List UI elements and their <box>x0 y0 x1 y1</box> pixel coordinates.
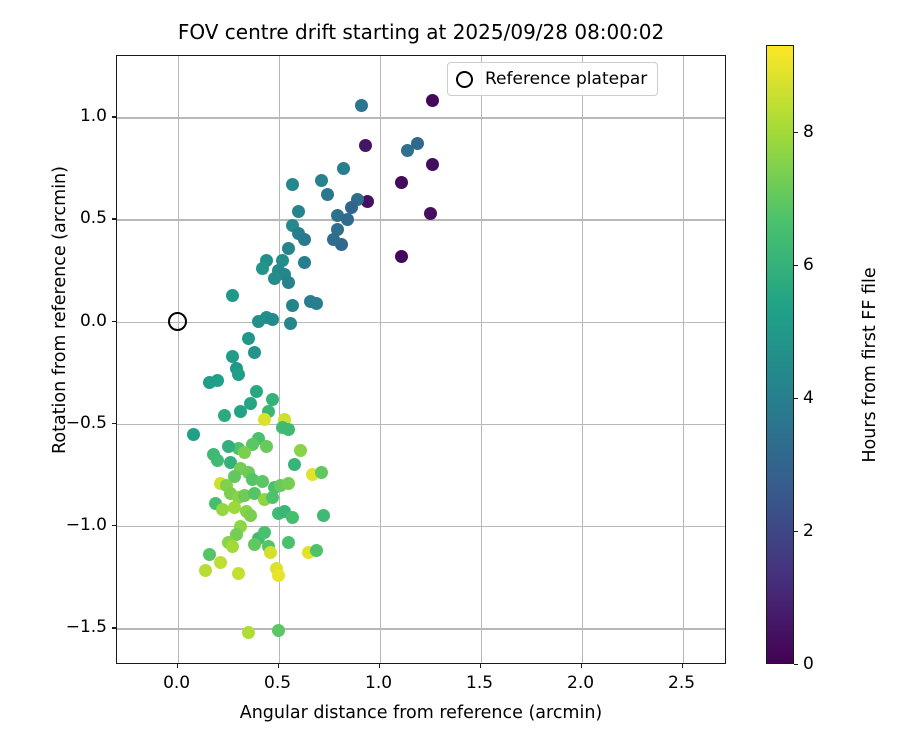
x-tick-mark <box>379 664 380 668</box>
data-point <box>282 536 295 549</box>
data-point <box>337 162 350 175</box>
data-point <box>252 315 265 328</box>
y-tick-label: −1.0 <box>66 515 107 535</box>
colorbar-tick-mark <box>794 265 798 266</box>
x-tick-label: 1.5 <box>466 673 493 693</box>
page-title: FOV centre drift starting at 2025/09/28 … <box>116 20 726 44</box>
y-tick-label: −1.5 <box>66 617 107 637</box>
legend: Reference platepar <box>447 62 658 96</box>
y-tick-mark <box>112 218 116 219</box>
data-point <box>250 385 263 398</box>
data-point <box>298 256 311 269</box>
x-tick-label: 1.0 <box>365 673 392 693</box>
data-point <box>218 409 231 422</box>
y-tick-label: −0.5 <box>66 413 107 433</box>
plot-area <box>116 55 726 664</box>
data-point <box>272 624 285 637</box>
y-axis-label: Rotation from reference (arcmin) <box>50 145 70 475</box>
data-point <box>395 176 408 189</box>
data-point <box>266 393 279 406</box>
y-tick-mark <box>112 116 116 117</box>
data-point <box>395 250 408 263</box>
y-tick-mark <box>112 423 116 424</box>
data-point <box>226 289 239 302</box>
data-point <box>199 564 212 577</box>
legend-marker-open-circle-icon <box>456 71 473 88</box>
data-point <box>292 205 305 218</box>
data-point <box>266 491 279 504</box>
data-point <box>226 540 239 553</box>
data-point <box>232 368 245 381</box>
reference-platepar-marker <box>168 312 187 331</box>
gridline-vertical <box>683 56 684 663</box>
y-tick-label: 1.0 <box>80 106 107 126</box>
colorbar-tick-label: 0 <box>803 654 814 674</box>
gridline-horizontal <box>117 526 725 527</box>
colorbar-tick-label: 2 <box>803 521 814 541</box>
gridline-vertical <box>178 56 179 663</box>
data-point <box>424 207 437 220</box>
data-point <box>203 376 216 389</box>
data-point <box>228 501 241 514</box>
data-point <box>310 544 323 557</box>
gridline-vertical <box>380 56 381 663</box>
data-point <box>288 458 301 471</box>
y-tick-mark <box>112 627 116 628</box>
data-point <box>242 332 255 345</box>
data-point <box>266 313 279 326</box>
colorbar-tick-label: 6 <box>803 255 814 275</box>
colorbar-tick-mark <box>794 398 798 399</box>
data-point <box>341 213 354 226</box>
data-point <box>256 475 269 488</box>
data-point <box>222 440 235 453</box>
data-point <box>294 444 307 457</box>
data-point <box>315 466 328 479</box>
data-point <box>315 174 328 187</box>
colorbar-tick-mark <box>794 132 798 133</box>
data-point <box>214 556 227 569</box>
data-point <box>256 262 269 275</box>
data-point <box>272 569 285 582</box>
data-point <box>248 538 261 551</box>
data-point <box>226 350 239 363</box>
data-point <box>282 423 295 436</box>
colorbar-tick-label: 8 <box>803 122 814 142</box>
data-point <box>286 299 299 312</box>
gridline-vertical <box>481 56 482 663</box>
gridline-horizontal <box>117 219 725 220</box>
gridline-horizontal <box>117 628 725 629</box>
x-tick-label: 0.0 <box>163 673 190 693</box>
colorbar <box>766 45 794 664</box>
data-point <box>234 405 247 418</box>
gridline-vertical <box>582 56 583 663</box>
data-point <box>211 454 224 467</box>
data-point <box>260 440 273 453</box>
gridline-horizontal <box>117 322 725 323</box>
x-tick-label: 0.5 <box>264 673 291 693</box>
data-point <box>310 297 323 310</box>
y-tick-mark <box>112 525 116 526</box>
x-tick-mark <box>581 664 582 668</box>
colorbar-tick-mark <box>794 531 798 532</box>
data-point <box>264 546 277 559</box>
data-point <box>355 99 368 112</box>
gridline-horizontal <box>117 424 725 425</box>
data-point <box>327 233 340 246</box>
x-tick-mark <box>177 664 178 668</box>
data-point <box>282 242 295 255</box>
x-tick-mark <box>480 664 481 668</box>
data-point <box>282 276 295 289</box>
legend-label: Reference platepar <box>485 69 647 89</box>
x-tick-mark <box>278 664 279 668</box>
y-tick-label: 0.0 <box>80 311 107 331</box>
data-point <box>238 446 251 459</box>
gridline-horizontal <box>117 117 725 118</box>
data-point <box>242 626 255 639</box>
data-point <box>284 317 297 330</box>
y-tick-mark <box>112 321 116 322</box>
data-point <box>321 188 334 201</box>
y-tick-label: 0.5 <box>80 208 107 228</box>
data-point <box>426 158 439 171</box>
data-point <box>286 178 299 191</box>
data-point <box>244 509 257 522</box>
data-point <box>282 477 295 490</box>
data-point <box>359 139 372 152</box>
colorbar-tick-label: 4 <box>803 388 814 408</box>
x-axis-label: Angular distance from reference (arcmin) <box>116 703 726 723</box>
colorbar-label: Hours from first FF file <box>860 195 880 535</box>
data-point <box>248 346 261 359</box>
x-tick-label: 2.0 <box>567 673 594 693</box>
data-point <box>426 94 439 107</box>
data-point <box>317 509 330 522</box>
data-point <box>187 428 200 441</box>
x-tick-label: 2.5 <box>668 673 695 693</box>
data-point <box>345 201 358 214</box>
x-tick-mark <box>682 664 683 668</box>
data-point <box>232 567 245 580</box>
data-point <box>216 503 229 516</box>
scatter-figure: FOV centre drift starting at 2025/09/28 … <box>0 0 900 750</box>
data-point <box>298 233 311 246</box>
data-point <box>258 526 271 539</box>
data-point <box>286 511 299 524</box>
colorbar-tick-mark <box>794 664 798 665</box>
data-point <box>411 137 424 150</box>
